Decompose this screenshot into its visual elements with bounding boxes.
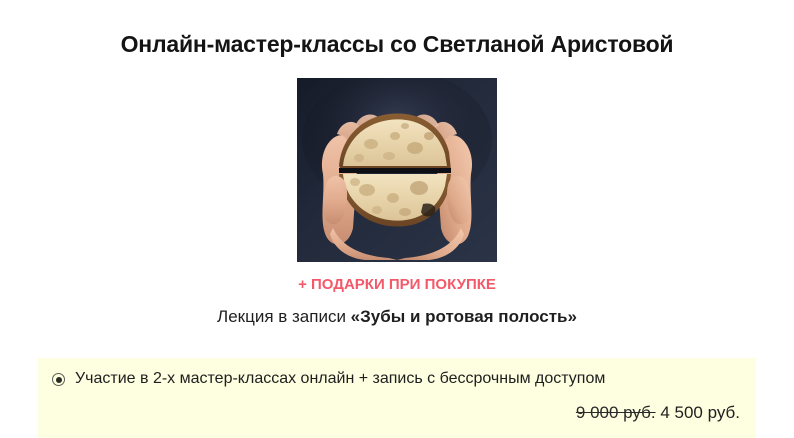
lecture-promo: Лекция в записи «Зубы и ротовая полость»	[0, 305, 794, 329]
hero-bread-photo	[297, 78, 497, 262]
radio-selected-icon[interactable]	[52, 373, 65, 386]
offer-option-label: Участие в 2-х мастер-классах онлайн + за…	[75, 368, 605, 390]
bread-in-hands-photo	[297, 78, 497, 262]
page-title: Онлайн-мастер-классы со Светланой Аристо…	[0, 30, 794, 58]
price-old: 9 000 руб.	[576, 403, 656, 422]
offer-pricing: 9 000 руб. 4 500 руб.	[52, 402, 742, 424]
offer-card[interactable]: Участие в 2-х мастер-классах онлайн + за…	[38, 358, 756, 438]
gifts-promo-label: + ПОДАРКИ ПРИ ПОКУПКЕ	[0, 275, 794, 295]
price-new: 4 500 руб.	[660, 403, 740, 422]
offer-option-row[interactable]: Участие в 2-х мастер-классах онлайн + за…	[52, 368, 742, 390]
lecture-title: «Зубы и ротовая полость»	[351, 307, 577, 326]
lecture-prefix: Лекция в записи	[217, 307, 351, 326]
